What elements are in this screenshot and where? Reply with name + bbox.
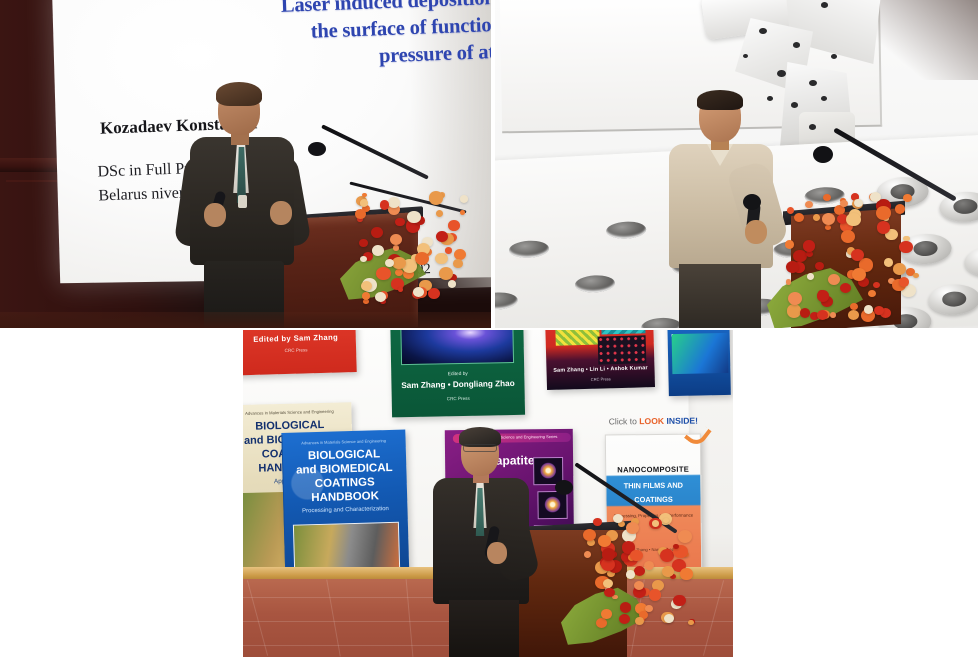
- flower-bloom: [635, 617, 644, 625]
- flower-bloom: [899, 277, 910, 287]
- photo-panel-top-right: [495, 0, 978, 328]
- flower-bloom: [786, 279, 792, 284]
- flower-bloom: [794, 213, 804, 222]
- flower-bloom: [893, 263, 906, 275]
- machine-bolt-hole: [821, 96, 827, 101]
- flower-bloom: [864, 305, 873, 313]
- flower-bloom: [601, 609, 611, 618]
- flower-bloom: [805, 201, 813, 208]
- flower-bloom: [445, 247, 452, 253]
- flower-bloom: [680, 568, 692, 579]
- book-cover-art: [672, 333, 729, 374]
- flower-bloom: [360, 199, 368, 206]
- flower-bloom: [851, 249, 864, 261]
- flower-bloom: [393, 245, 399, 251]
- flower-bloom: [813, 214, 820, 221]
- wall-molding: [0, 158, 63, 172]
- book-title-line-1: NANOCOMPOSITE: [606, 465, 700, 475]
- flower-bloom: [385, 259, 394, 268]
- flower-bloom: [619, 614, 630, 624]
- speaker-figure: [176, 85, 316, 328]
- book-edited-by: Edited by Sam Zhang: [243, 332, 356, 344]
- speaker-hair: [216, 82, 262, 106]
- flower-bloom: [785, 240, 794, 248]
- metal-ring-workpiece: [928, 283, 978, 316]
- book-cover-green: Edited by Sam Zhang • Dongliang Zhao CRC…: [390, 330, 525, 417]
- flower-bloom: [903, 194, 912, 202]
- speaker-right-hand: [270, 201, 292, 225]
- flower-bloom: [649, 589, 661, 600]
- flower-bloom: [371, 227, 383, 238]
- book-art-quadrant-2: [601, 330, 646, 335]
- speaker-trousers: [449, 600, 519, 657]
- flower-bloom: [852, 268, 866, 281]
- fixture-plate-hole: [495, 291, 518, 310]
- microphone-head-icon: [743, 194, 761, 210]
- speaker-trousers: [679, 264, 761, 328]
- book-cover-art: [400, 330, 514, 365]
- machine-bolt-hole: [831, 54, 837, 59]
- flower-bloom: [630, 550, 643, 562]
- speaker-right-hand: [487, 542, 507, 564]
- look-inside-look: LOOK: [639, 416, 666, 426]
- flower-bloom: [439, 267, 453, 280]
- microphone-head-icon: [308, 142, 326, 156]
- fixture-plate-hole: [509, 240, 550, 259]
- flower-bloom: [415, 252, 429, 265]
- flower-bloom: [593, 518, 602, 526]
- flower-bloom: [376, 267, 391, 281]
- speaker-figure: [431, 430, 547, 657]
- flower-bloom: [841, 230, 855, 243]
- flower-bloom: [602, 548, 616, 561]
- flower-bloom: [362, 292, 370, 300]
- publisher-label: CRC Press: [243, 346, 356, 354]
- flower-bloom: [806, 251, 813, 257]
- flower-bloom: [822, 213, 835, 225]
- flower-bloom: [787, 304, 802, 317]
- flower-bloom: [634, 566, 645, 576]
- flower-arrangement: [352, 188, 472, 310]
- flower-bloom: [664, 614, 674, 623]
- fixture-plate-hole: [606, 221, 647, 240]
- eyeglasses-icon: [463, 444, 497, 452]
- book-cover-blue-thin: Sam Zhang: [667, 330, 731, 396]
- flower-bloom: [895, 204, 905, 213]
- flower-bloom: [823, 194, 831, 201]
- flower-bloom: [454, 249, 466, 260]
- flower-bloom: [604, 588, 614, 597]
- flower-bloom: [584, 551, 591, 557]
- photo-panel-bottom: Edited by Sam Zhang CRC Press Edited by …: [243, 330, 733, 657]
- flower-bloom: [678, 530, 692, 543]
- flower-bloom: [840, 200, 848, 207]
- flower-bloom: [583, 529, 596, 541]
- publisher-label: CRC Press: [547, 375, 655, 383]
- flower-bloom: [854, 199, 863, 207]
- flower-bloom: [407, 211, 420, 223]
- speaker-right-hand: [745, 220, 767, 244]
- flower-bloom: [398, 287, 404, 292]
- flower-bloom: [355, 209, 366, 219]
- flower-bloom: [395, 218, 405, 227]
- flower-arrangement: [583, 512, 699, 657]
- flower-bloom: [876, 206, 891, 220]
- flower-bloom: [429, 191, 444, 205]
- flower-bloom: [392, 257, 406, 270]
- machine-bolt-hole: [793, 42, 800, 48]
- flower-bloom: [448, 220, 459, 231]
- flower-bloom: [660, 549, 675, 562]
- flower-bloom: [453, 259, 463, 268]
- flower-bloom: [380, 200, 390, 209]
- microphone-stand-head-icon: [555, 480, 573, 495]
- flower-bloom: [800, 308, 810, 318]
- flower-bloom: [435, 253, 448, 265]
- flower-bloom: [644, 561, 654, 570]
- flower-bloom: [360, 256, 367, 262]
- flower-bloom: [372, 245, 384, 256]
- flower-bloom: [846, 213, 861, 227]
- flower-bloom: [603, 579, 613, 588]
- flower-bloom: [873, 282, 880, 288]
- flower-bloom: [375, 292, 386, 302]
- flower-bloom: [663, 518, 669, 524]
- flower-bloom: [626, 570, 635, 578]
- machine-bolt-hole: [809, 124, 816, 130]
- book-edited-label: Edited by: [391, 371, 524, 379]
- flower-bloom: [652, 520, 659, 526]
- flower-bloom: [877, 221, 891, 234]
- flower-bloom: [634, 581, 644, 590]
- flower-arrangement: [785, 192, 925, 328]
- book-title-line-2: THIN FILMS AND: [606, 481, 700, 491]
- photo-panel-top-left: Laser induced deposition of m the surfac…: [0, 0, 491, 328]
- flower-bloom: [428, 288, 440, 299]
- microphone-stand-head-icon: [813, 146, 833, 163]
- flower-bloom: [460, 210, 466, 215]
- flower-bloom: [359, 239, 367, 247]
- book-cover-red: Edited by Sam Zhang CRC Press: [243, 330, 357, 375]
- flower-bloom: [825, 225, 831, 230]
- photo-collage: Laser induced deposition of m the surfac…: [0, 0, 978, 657]
- fixture-plate-hole: [575, 274, 616, 293]
- flower-bloom: [688, 620, 693, 625]
- flower-bloom: [390, 234, 402, 245]
- flower-bloom: [626, 522, 639, 534]
- flower-bloom: [436, 210, 443, 217]
- flower-bloom: [598, 535, 611, 547]
- flower-bloom: [388, 197, 400, 208]
- flower-bloom: [620, 602, 632, 613]
- flower-bloom: [413, 287, 424, 297]
- look-inside-badge: Click to LOOK INSIDE!: [609, 415, 729, 426]
- flower-bloom: [436, 231, 448, 242]
- flower-bloom: [662, 566, 674, 577]
- book-art-quadrant-3: [598, 335, 647, 364]
- flower-bloom: [460, 195, 468, 202]
- flower-bloom: [868, 290, 876, 297]
- flower-bloom: [673, 595, 685, 606]
- metal-ring-workpiece: [964, 245, 978, 278]
- flower-bloom: [362, 193, 367, 198]
- machine-bolt-hole: [743, 54, 748, 58]
- flower-bloom: [815, 262, 824, 270]
- look-inside-prefix: Click to: [609, 416, 640, 426]
- machine-bolt-hole: [821, 2, 828, 8]
- flower-bloom: [830, 312, 837, 318]
- book-edited-by: Sam Zhang • Dongliang Zhao: [391, 379, 524, 391]
- flower-bloom: [448, 280, 457, 288]
- flower-bloom: [817, 310, 828, 320]
- flower-bloom: [899, 241, 913, 254]
- book-authors: Sam Zhang • Lin Li • Ashok Kumar: [546, 365, 654, 374]
- flower-bloom: [913, 273, 919, 279]
- speaker-hair: [697, 90, 743, 110]
- flower-bloom: [848, 310, 859, 320]
- speaker-left-hand: [204, 203, 226, 227]
- publisher-label: CRC Press: [392, 395, 525, 403]
- flower-bloom: [884, 258, 893, 266]
- book-series-label: Advances in Materials Science and Engine…: [243, 408, 351, 416]
- flower-bloom: [395, 269, 403, 276]
- foreground-shadow: [0, 312, 491, 328]
- book-art-quadrant-1: [555, 330, 600, 346]
- speaker-badge: [238, 195, 247, 208]
- flower-bloom: [803, 240, 815, 251]
- flower-bloom: [786, 261, 799, 273]
- flower-bloom: [787, 207, 795, 214]
- flower-bloom: [793, 250, 807, 262]
- book-cover-colorful: Sam Zhang • Lin Li • Ashok Kumar CRC Pre…: [545, 330, 655, 390]
- flower-bloom: [817, 290, 829, 301]
